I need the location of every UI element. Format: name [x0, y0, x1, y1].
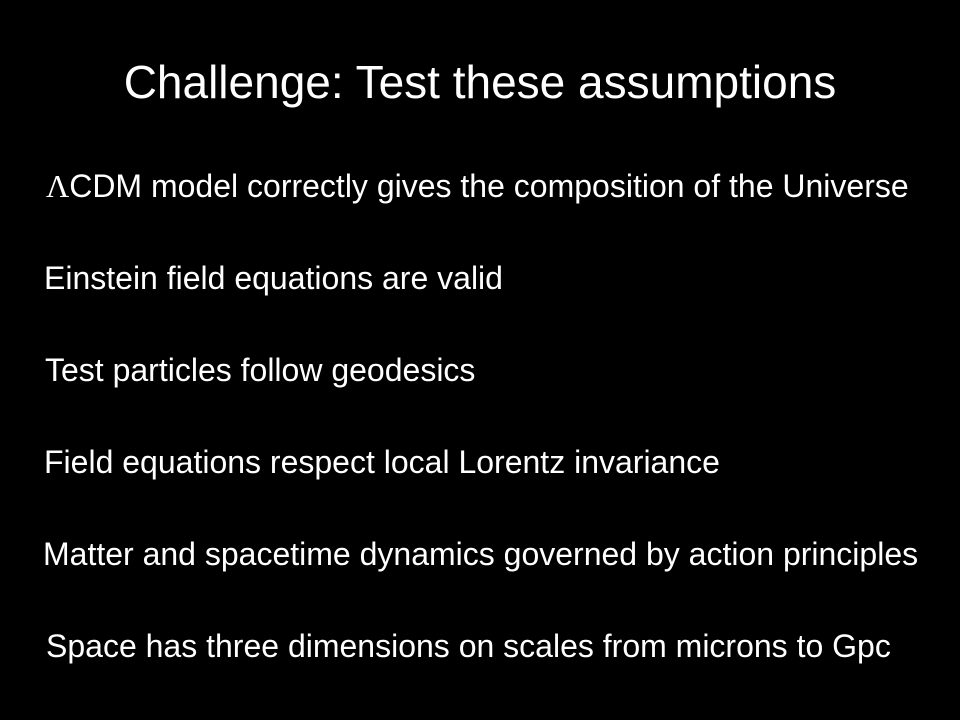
page-title: Challenge: Test these assumptions — [0, 56, 960, 108]
list-item: ΛCDM model correctly gives the compositi… — [46, 166, 946, 206]
list-item: Space has three dimensions on scales fro… — [46, 626, 946, 666]
presentation-slide: Challenge: Test these assumptions ΛCDM m… — [0, 0, 960, 720]
list-item: Einstein field equations are valid — [44, 258, 944, 298]
list-item: Matter and spacetime dynamics governed b… — [43, 534, 943, 574]
list-item-label: Test particles follow geodesics — [45, 352, 475, 388]
list-item-label: Field equations respect local Lorentz in… — [44, 444, 720, 480]
list-item-label: Matter and spacetime dynamics governed b… — [43, 536, 918, 572]
list-item: Test particles follow geodesics — [45, 350, 945, 390]
list-item-label: Space has three dimensions on scales fro… — [46, 628, 891, 664]
lambda-symbol: Λ — [46, 168, 69, 204]
list-item-label: Einstein field equations are valid — [44, 260, 503, 296]
list-item: Field equations respect local Lorentz in… — [44, 442, 944, 482]
list-item-label: CDM model correctly gives the compositio… — [69, 168, 908, 204]
